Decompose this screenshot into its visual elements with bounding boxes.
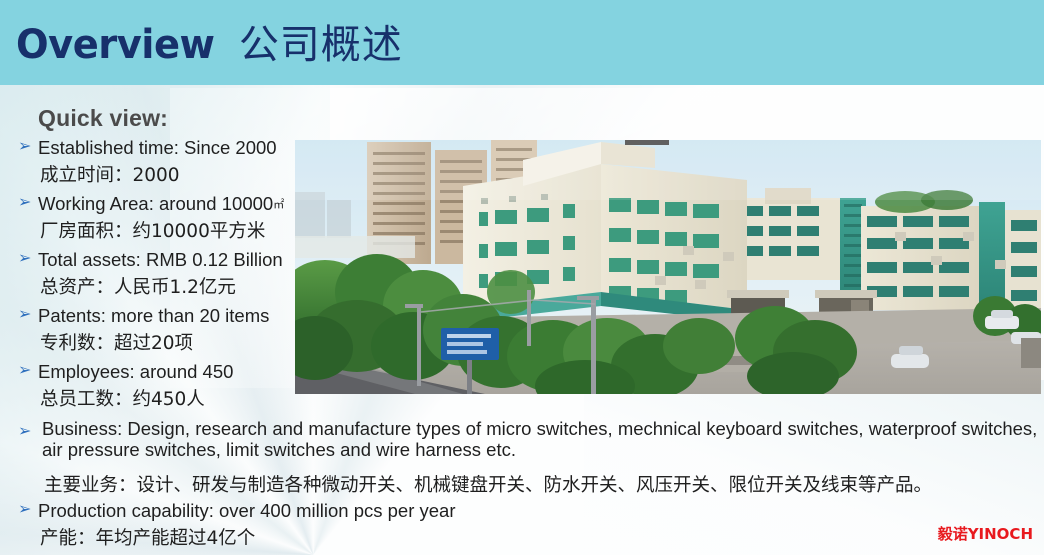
business-item: ➢ Business: Design, research and manufac… bbox=[14, 418, 1034, 499]
arrow-bullet-icon: ➢ bbox=[14, 418, 38, 444]
list-item-zh: 总员工数：约450人 bbox=[40, 386, 205, 413]
arrow-bullet-icon: ➢ bbox=[14, 134, 38, 160]
list-item-zh-row: 成立时间：2000 bbox=[14, 162, 304, 190]
business-en-line1: Business: Design, research and manufactu… bbox=[38, 418, 1037, 439]
list-item-en: Established time: Since 2000 bbox=[38, 134, 277, 161]
list-item-zh-row: 总员工数：约450人 bbox=[14, 386, 304, 414]
list-item: ➢ Employees: around 450 bbox=[14, 358, 304, 386]
production-zh: 产能：年均产能超过4亿个 bbox=[40, 525, 255, 552]
list-item-en: Patents: more than 20 items bbox=[38, 302, 269, 329]
company-logo: 毅诺YINOCH bbox=[938, 523, 1033, 544]
list-item-zh: 总资产：人民币1.2亿元 bbox=[40, 274, 236, 301]
production-item: ➢ Production capability: over 400 millio… bbox=[14, 497, 714, 553]
list-item-zh: 专利数：超过20项 bbox=[40, 330, 193, 357]
list-item-en: Working Area: around 10000㎡ bbox=[38, 190, 284, 219]
list-item-en-text: Working Area: around 10000 bbox=[38, 193, 273, 214]
list-item-zh-row: 厂房面积：约10000平方米 bbox=[14, 218, 304, 246]
quick-view-list: ➢ Established time: Since 2000 成立时间：2000… bbox=[14, 134, 304, 414]
header-band: Overview 公司概述 bbox=[0, 0, 1044, 85]
arrow-bullet-icon: ➢ bbox=[14, 497, 38, 523]
arrow-bullet-icon: ➢ bbox=[14, 358, 38, 384]
production-en-row: ➢ Production capability: over 400 millio… bbox=[14, 497, 714, 525]
business-en-line2: air pressure switches, limit switches an… bbox=[38, 439, 1037, 460]
arrow-bullet-icon: ➢ bbox=[14, 246, 38, 272]
list-item: ➢ Working Area: around 10000㎡ bbox=[14, 190, 304, 218]
page-title-en: Overview bbox=[16, 22, 215, 68]
arrow-bullet-icon: ➢ bbox=[14, 302, 38, 328]
production-zh-row: 产能：年均产能超过4亿个 bbox=[14, 525, 714, 553]
list-item: ➢ Total assets: RMB 0.12 Billion bbox=[14, 246, 304, 274]
business-en-text: Business: Design, research and manufactu… bbox=[38, 418, 1037, 460]
list-item-en: Employees: around 450 bbox=[38, 358, 233, 385]
slide: Overview 公司概述 Quick view: ➢ Established … bbox=[0, 0, 1044, 555]
list-item-en: Total assets: RMB 0.12 Billion bbox=[38, 246, 283, 273]
page-title: Overview 公司概述 bbox=[16, 12, 403, 70]
production-en: Production capability: over 400 million … bbox=[38, 497, 456, 524]
list-item: ➢ Established time: Since 2000 bbox=[14, 134, 304, 162]
quick-view-heading: Quick view: bbox=[38, 105, 168, 132]
factory-building-photo bbox=[295, 140, 1041, 394]
list-item: ➢ Patents: more than 20 items bbox=[14, 302, 304, 330]
business-en-row: ➢ Business: Design, research and manufac… bbox=[14, 418, 1034, 460]
business-zh: 主要业务：设计、研发与制造各种微动开关、机械键盘开关、防水开关、风压开关、限位开… bbox=[14, 472, 1034, 499]
arrow-bullet-icon: ➢ bbox=[14, 190, 38, 216]
list-item-en-superscript: ㎡ bbox=[273, 199, 284, 211]
list-item-zh: 厂房面积：约10000平方米 bbox=[40, 218, 265, 245]
list-item-zh: 成立时间：2000 bbox=[40, 162, 180, 189]
list-item-zh-row: 专利数：超过20项 bbox=[14, 330, 304, 358]
page-title-zh: 公司概述 bbox=[239, 12, 403, 70]
factory-photo-graphic bbox=[295, 140, 1041, 394]
list-item-zh-row: 总资产：人民币1.2亿元 bbox=[14, 274, 304, 302]
